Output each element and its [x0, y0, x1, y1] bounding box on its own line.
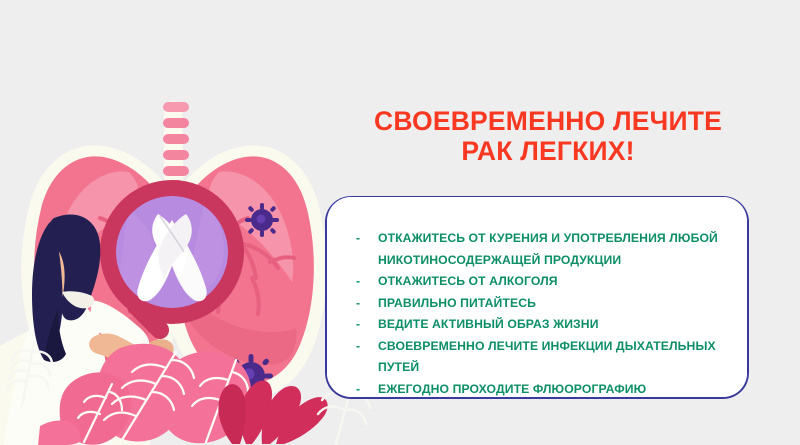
page-title: СВОЕВРЕМЕННО ЛЕЧИТЕ РАК ЛЕГКИХ! [338, 106, 758, 166]
list-item: - СВОЕВРЕМЕННО ЛЕЧИТЕ ИНФЕКЦИИ ДЫХАТЕЛЬН… [352, 336, 752, 379]
crimson-fan-leaves [218, 380, 327, 444]
list-item: - ОТКАЖИТЕСЬ ОТ КУРЕНИЯ И УПОТРЕБЛЕНИЯ Л… [352, 228, 752, 271]
bullet-marker: - [352, 336, 378, 358]
bullet-marker: - [352, 379, 378, 401]
page-title-line-1: СВОЕВРЕМЕННО ЛЕЧИТЕ [374, 106, 722, 136]
page-title-line-2: РАК ЛЕГКИХ! [338, 136, 758, 166]
list-item-text: ВЕДИТЕ АКТИВНЫЙ ОБРАЗ ЖИЗНИ [378, 314, 752, 336]
recommendations-list: - ОТКАЖИТЕСЬ ОТ КУРЕНИЯ И УПОТРЕБЛЕНИЯ Л… [352, 228, 752, 400]
bullet-marker: - [352, 314, 378, 336]
list-item-text: ЕЖЕГОДНО ПРОХОДИТЕ ФЛЮОРОГРАФИЮ [378, 379, 752, 401]
bullet-marker: - [352, 228, 378, 250]
bullet-marker: - [352, 293, 378, 315]
virus-icon-right-upper [245, 203, 279, 237]
list-item: - ЕЖЕГОДНО ПРОХОДИТЕ ФЛЮОРОГРАФИЮ [352, 379, 752, 401]
white-leaf-left [7, 342, 52, 406]
poster-canvas: - ОТКАЖИТЕСЬ ОТ КУРЕНИЯ И УПОТРЕБЛЕНИЯ Л… [0, 0, 800, 445]
list-item: - ВЕДИТЕ АКТИВНЫЙ ОБРАЗ ЖИЗНИ [352, 314, 752, 336]
list-item-text: ОТКАЖИТЕСЬ ОТ КУРЕНИЯ И УПОТРЕБЛЕНИЯ ЛЮБ… [378, 228, 752, 271]
list-item-text: СВОЕВРЕМЕННО ЛЕЧИТЕ ИНФЕКЦИИ ДЫХАТЕЛЬНЫХ… [378, 336, 752, 379]
bullet-marker: - [352, 271, 378, 293]
list-item: - ОТКАЖИТЕСЬ ОТ АЛКОГОЛЯ [352, 271, 752, 293]
list-item-text: ПРАВИЛЬНО ПИТАЙТЕСЬ [378, 293, 752, 315]
list-item-text: ОТКАЖИТЕСЬ ОТ АЛКОГОЛЯ [378, 271, 752, 293]
list-item: - ПРАВИЛЬНО ПИТАЙТЕСЬ [352, 293, 752, 315]
